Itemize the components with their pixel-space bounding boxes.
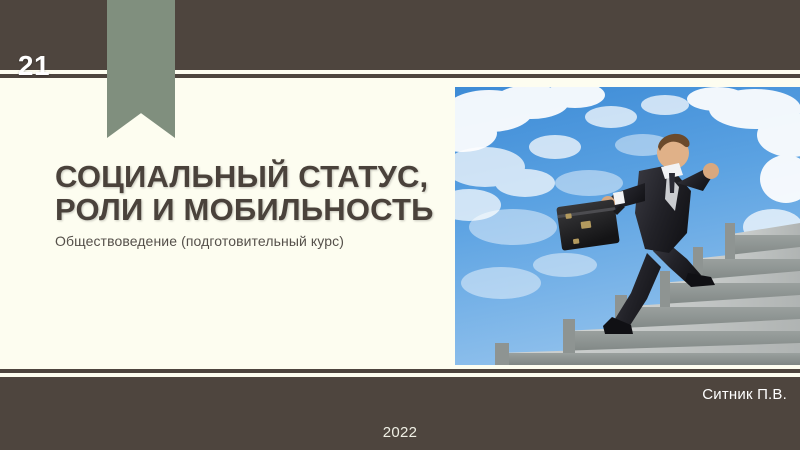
slide-title: СОЦИАЛЬНЫЙ СТАТУС, РОЛИ И МОБИЛЬНОСТЬ [55, 160, 435, 227]
title-block: СОЦИАЛЬНЫЙ СТАТУС, РОЛИ И МОБИЛЬНОСТЬ Об… [55, 160, 435, 250]
author-name: Ситник П.В. [702, 386, 787, 403]
presentation-slide: 21 СОЦИАЛЬНЫЙ СТАТУС, РОЛИ И МОБИЛЬНОСТЬ… [0, 0, 800, 450]
stairs-photo-illustration [455, 87, 800, 365]
stairs-photo [455, 87, 800, 365]
year-label: 2022 [0, 424, 800, 441]
briefcase [556, 199, 625, 251]
slide-subtitle: Обществоведение (подготовительный курс) [55, 233, 435, 250]
slide-number-label: 21 [0, 52, 68, 80]
